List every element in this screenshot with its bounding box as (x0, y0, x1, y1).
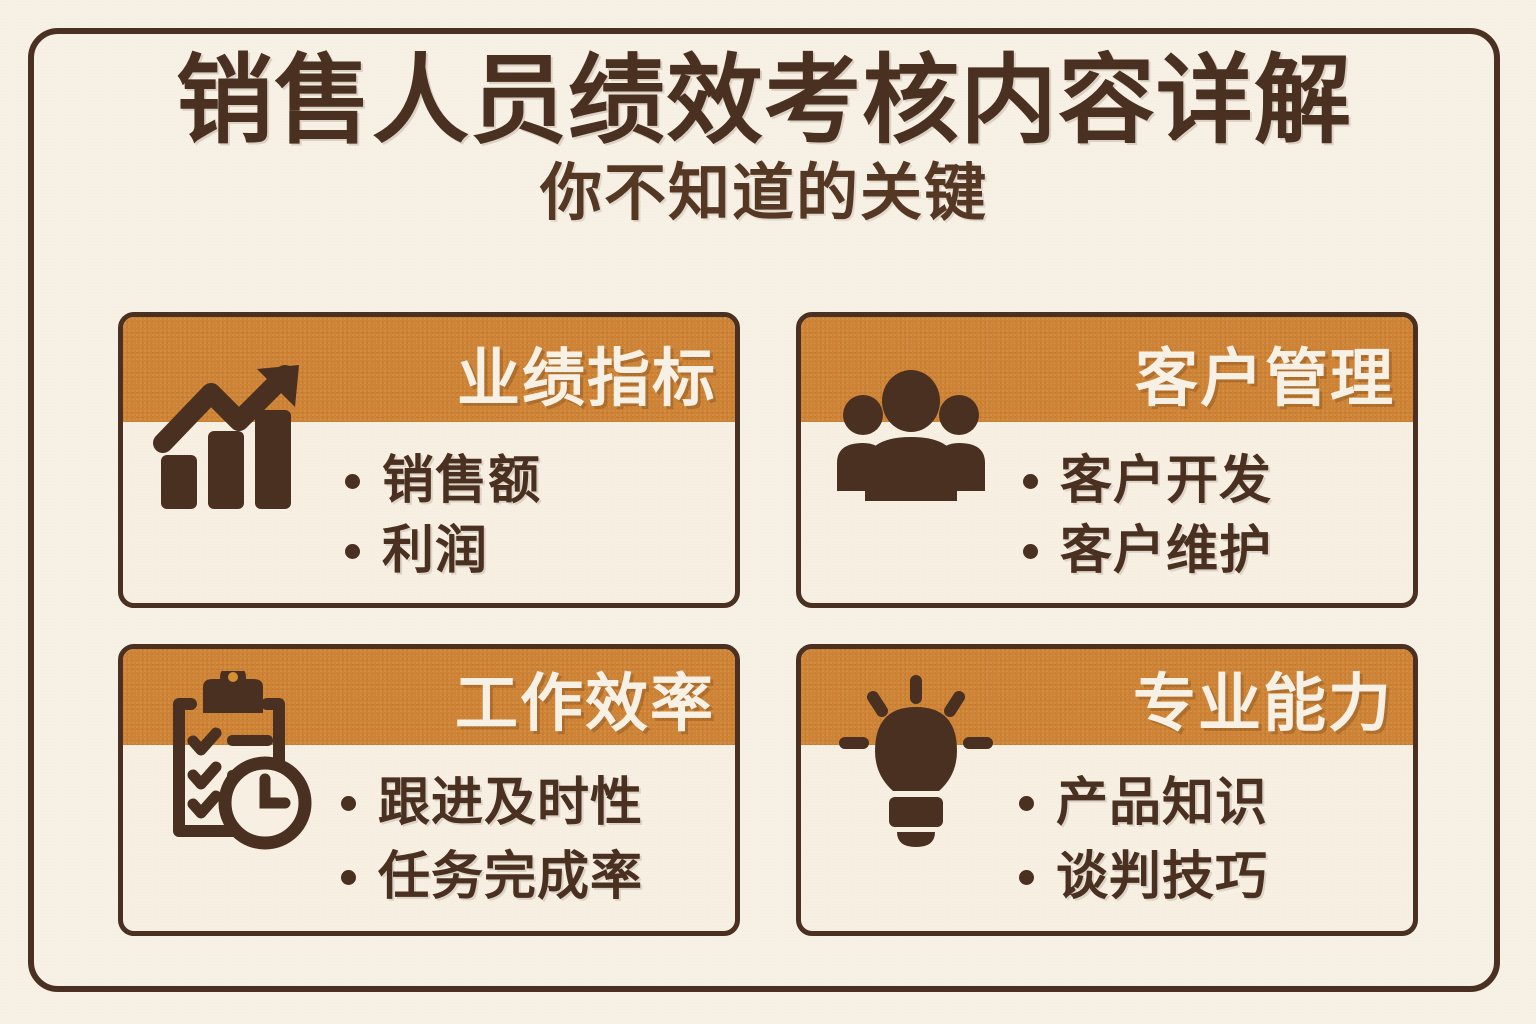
list-item: 跟进及时性 (341, 777, 721, 829)
list-item: 谈判技巧 (1019, 851, 1399, 903)
list-item: 客户开发 (1023, 455, 1399, 507)
bullet-label: 谈判技巧 (1056, 851, 1268, 903)
list-item: 利润 (345, 525, 721, 577)
list-item: 客户维护 (1023, 525, 1399, 577)
bullet-label: 客户开发 (1060, 455, 1272, 507)
card-title: 客户管理 (1135, 325, 1395, 421)
card-performance-metrics[interactable]: 业绩指标 销售额 (118, 312, 740, 608)
bullet-label: 销售额 (382, 455, 541, 507)
card-title: 专业能力 (1133, 651, 1393, 745)
bullet-label: 客户维护 (1060, 525, 1272, 577)
page-subtitle: 你不知道的关键 (28, 161, 1500, 226)
card-bullet-list: 产品知识 谈判技巧 (1007, 755, 1399, 925)
bullet-dot-icon (1023, 544, 1038, 559)
bullet-label: 任务完成率 (378, 851, 643, 903)
bullet-dot-icon (1019, 796, 1034, 811)
bullet-label: 产品知识 (1056, 777, 1268, 829)
title-block: 销售人员绩效考核内容详解 你不知道的关键 (28, 52, 1500, 226)
card-grid: 业绩指标 销售额 (118, 312, 1418, 936)
card-bullet-list: 客户开发 客户维护 (1011, 435, 1399, 597)
card-professional-ability[interactable]: 专业能力 (796, 644, 1418, 936)
card-customer-management[interactable]: 客户管理 (796, 312, 1418, 608)
bullet-dot-icon (1019, 870, 1034, 885)
clipboard-clock-icon (161, 671, 316, 851)
card-bullet-list: 跟进及时性 任务完成率 (329, 755, 721, 925)
card-title: 业绩指标 (457, 325, 717, 421)
card-title: 工作效率 (455, 651, 715, 745)
lightbulb-icon (839, 671, 994, 851)
card-work-efficiency[interactable]: 工作效率 (118, 644, 740, 936)
people-group-icon (831, 363, 991, 513)
bar-chart-growth-icon (153, 363, 313, 513)
bullet-dot-icon (341, 870, 356, 885)
list-item: 任务完成率 (341, 851, 721, 903)
bullet-dot-icon (345, 474, 360, 489)
card-bullet-list: 销售额 利润 (333, 435, 721, 597)
infographic-poster: 销售人员绩效考核内容详解 你不知道的关键 业绩指标 (0, 0, 1536, 1024)
list-item: 产品知识 (1019, 777, 1399, 829)
bullet-dot-icon (341, 796, 356, 811)
bullet-dot-icon (345, 544, 360, 559)
list-item: 销售额 (345, 455, 721, 507)
bullet-label: 利润 (382, 525, 488, 577)
bullet-label: 跟进及时性 (378, 777, 643, 829)
bullet-dot-icon (1023, 474, 1038, 489)
page-title: 销售人员绩效考核内容详解 (28, 52, 1500, 151)
